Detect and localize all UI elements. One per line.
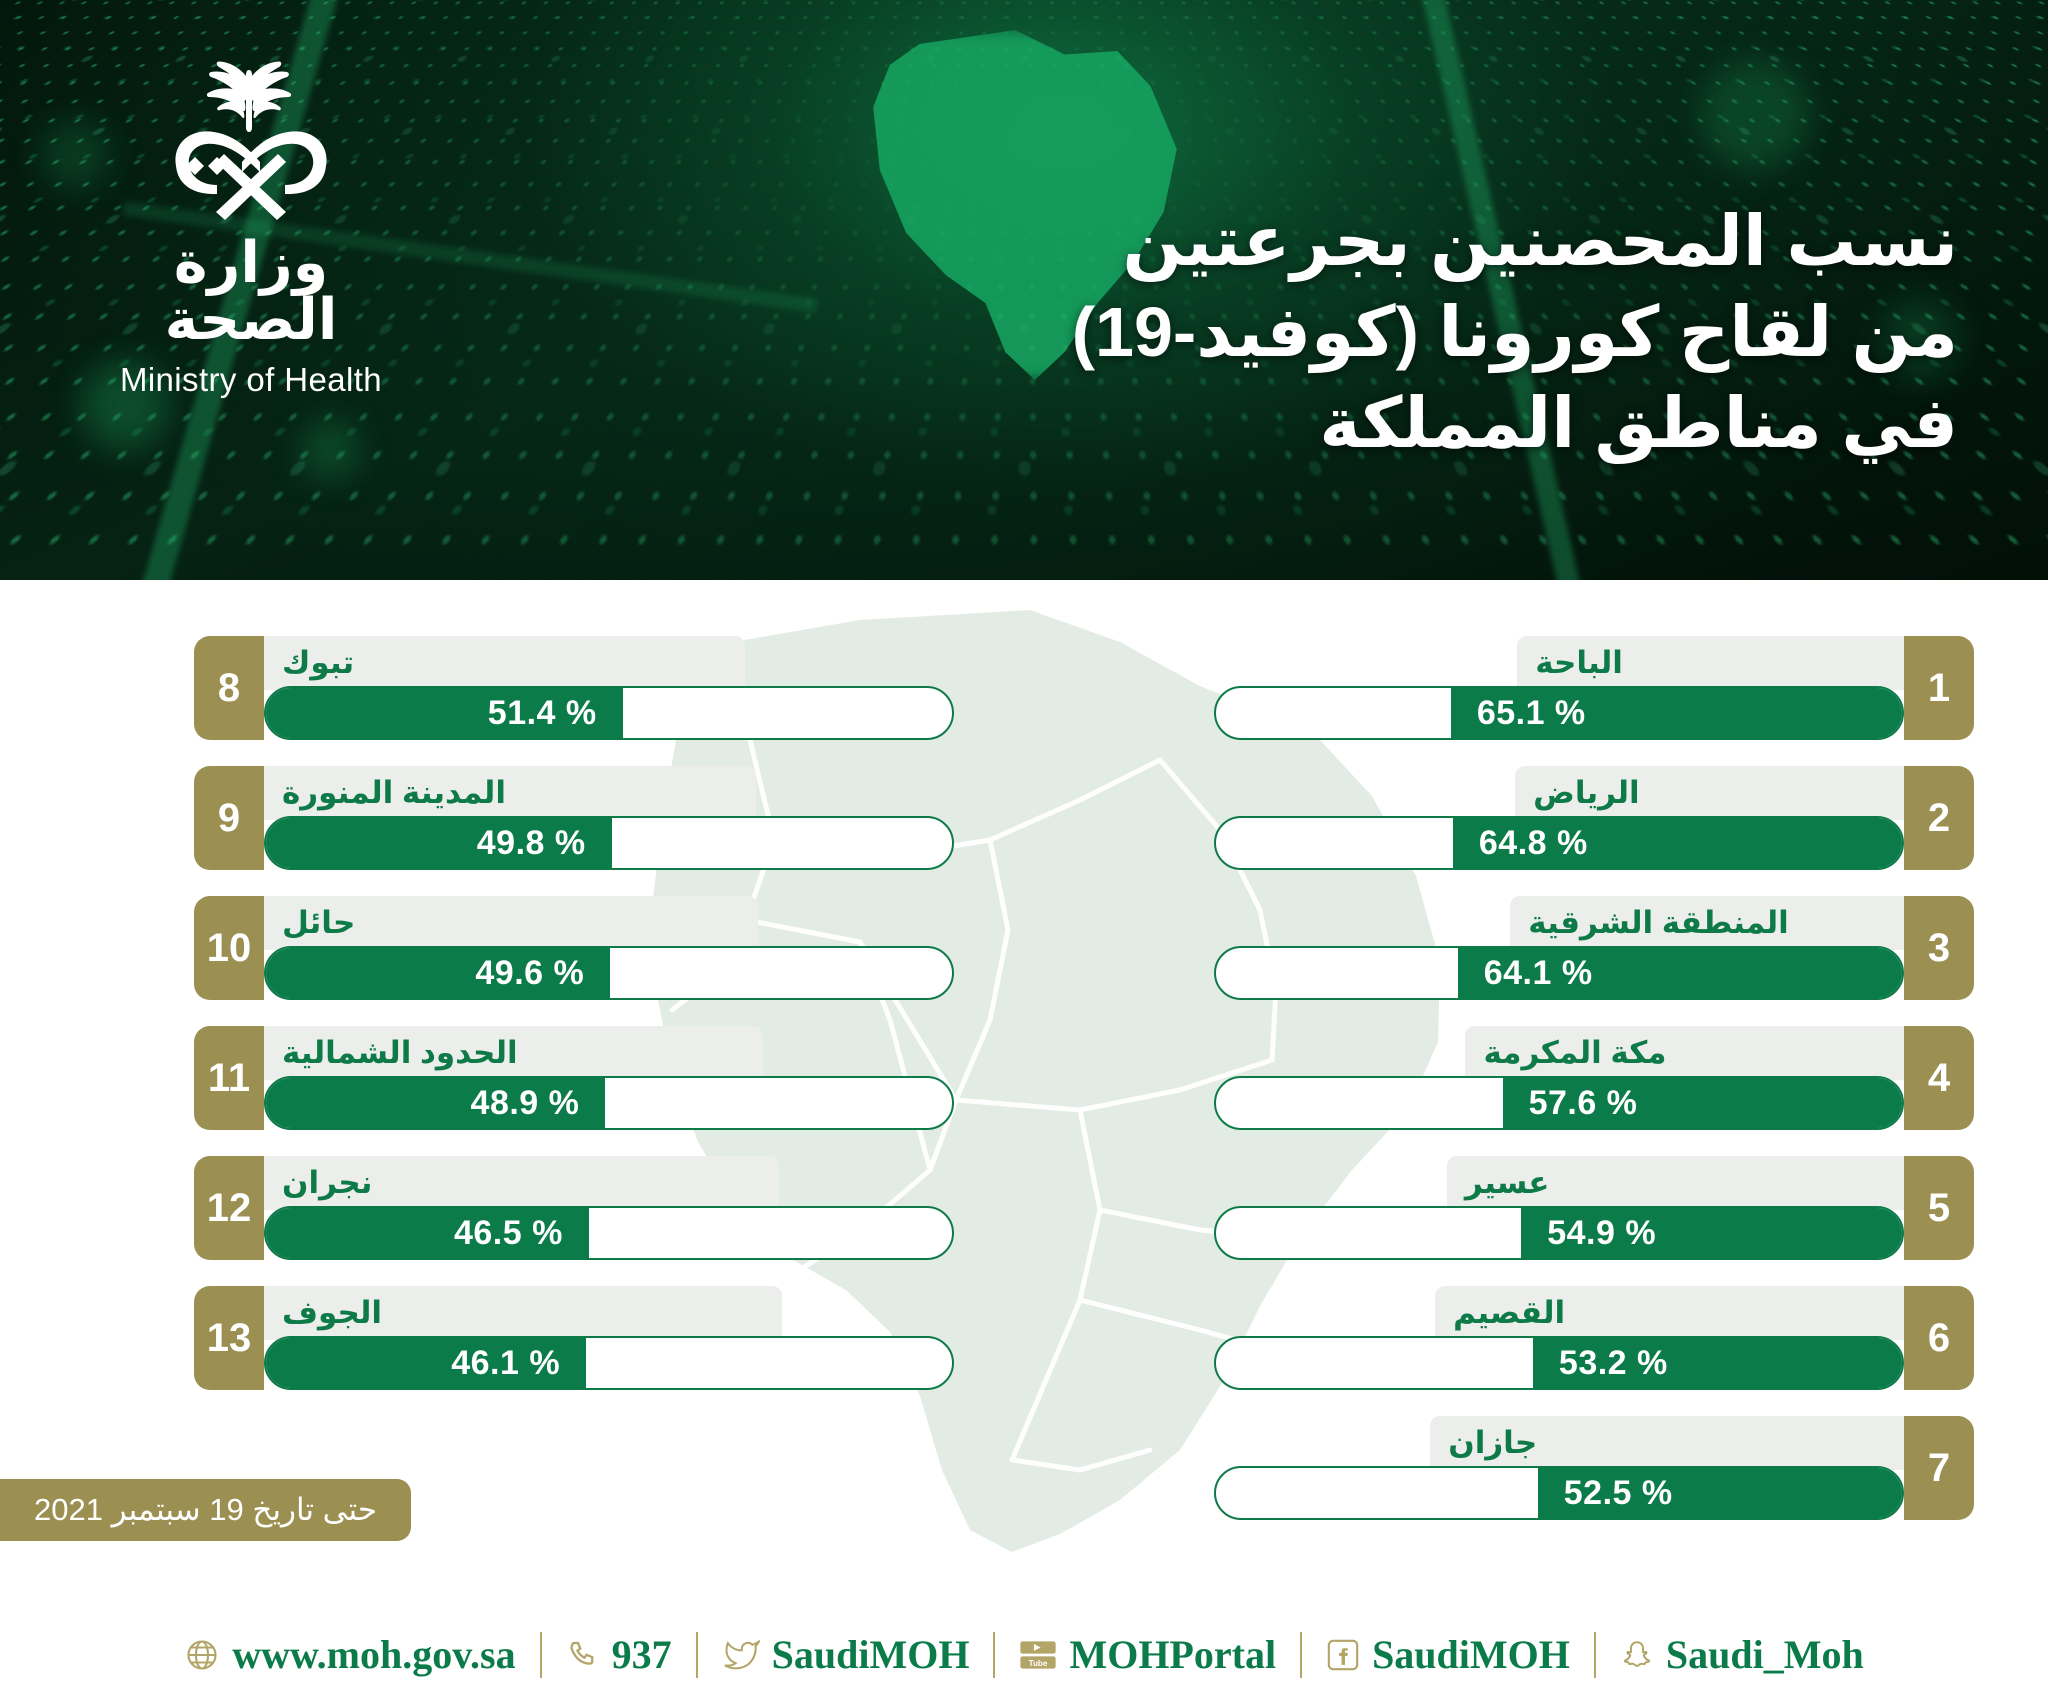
- progress-fill: 54.9 %: [1521, 1206, 1904, 1260]
- progress-fill: 51.4 %: [264, 686, 623, 740]
- header-bokeh-dot: [1700, 60, 1810, 170]
- progress-track: 64.8 %: [1214, 816, 1904, 870]
- percentage-value: 49.8 %: [477, 824, 586, 863]
- percentage-value: 51.4 %: [488, 694, 597, 733]
- progress-track: 46.5 %: [264, 1206, 954, 1260]
- progress-fill: 65.1 %: [1451, 686, 1904, 740]
- percentage-value: 48.9 %: [471, 1084, 580, 1123]
- region-name: الرياض: [1515, 766, 1904, 820]
- title-line-3: في مناطق المملكة: [618, 378, 1958, 469]
- rank-badge: 5: [1904, 1156, 1974, 1260]
- snapchat-icon: [1620, 1638, 1654, 1672]
- rank-badge: 11: [194, 1026, 264, 1130]
- progress-track: 51.4 %: [264, 686, 954, 740]
- rank-badge: 10: [194, 896, 264, 1000]
- rank-badge: 6: [1904, 1286, 1974, 1390]
- rank-badge: 8: [194, 636, 264, 740]
- phone-icon: [566, 1638, 600, 1672]
- twitter-icon: [722, 1638, 760, 1672]
- percentage-value: 49.6 %: [475, 954, 584, 993]
- footer-label-facebook: SaudiMOH: [1372, 1631, 1570, 1678]
- table-row: 9 المدينة المنورة 49.8 %: [194, 766, 954, 896]
- rank-badge: 3: [1904, 896, 1974, 1000]
- logo-english-text: Ministry of Health: [86, 361, 416, 399]
- rank-badge: 1: [1904, 636, 1974, 740]
- rank-badge: 13: [194, 1286, 264, 1390]
- progress-track: 52.5 %: [1214, 1466, 1904, 1520]
- footer-item-website[interactable]: www.moh.gov.sa: [160, 1631, 539, 1678]
- table-row: 5 عسير 54.9 %: [1214, 1156, 1974, 1286]
- progress-fill: 46.5 %: [264, 1206, 589, 1260]
- footer-item-snapchat[interactable]: Saudi_Moh: [1596, 1631, 1888, 1678]
- progress-fill: 49.6 %: [264, 946, 610, 1000]
- progress-fill: 57.6 %: [1503, 1076, 1904, 1130]
- table-row: 12 نجران 46.5 %: [194, 1156, 954, 1286]
- footer-label-snapchat: Saudi_Moh: [1666, 1631, 1864, 1678]
- table-row: 8 تبوك 51.4 %: [194, 636, 954, 766]
- moh-logo: وزارة الصحة Ministry of Health: [86, 58, 416, 399]
- table-row: 10 حائل 49.6 %: [194, 896, 954, 1026]
- region-name: الجوف: [264, 1286, 782, 1340]
- progress-track: 48.9 %: [264, 1076, 954, 1130]
- footer-label-phone: 937: [612, 1631, 672, 1678]
- region-name: تبوك: [264, 636, 745, 690]
- region-name: نجران: [264, 1156, 779, 1210]
- table-row: 2 الرياض 64.8 %: [1214, 766, 1974, 896]
- progress-fill: 64.1 %: [1458, 946, 1904, 1000]
- rank-badge: 4: [1904, 1026, 1974, 1130]
- progress-track: 49.8 %: [264, 816, 954, 870]
- page-title: نسب المحصنين بجرعتين من لقاح كورونا (كوف…: [618, 196, 1958, 469]
- percentage-value: 64.1 %: [1484, 954, 1593, 993]
- region-name: الباحة: [1517, 636, 1904, 690]
- footer-social-bar: www.moh.gov.sa 937 SaudiMOH: [0, 1608, 2048, 1701]
- progress-fill: 49.8 %: [264, 816, 612, 870]
- region-name: المدينة المنورة: [264, 766, 756, 820]
- progress-fill: 53.2 %: [1533, 1336, 1904, 1390]
- date-badge: حتى تاريخ 19 سبتمبر 2021: [0, 1479, 411, 1541]
- region-name: عسير: [1447, 1156, 1904, 1210]
- progress-track: 53.2 %: [1214, 1336, 1904, 1390]
- table-row: 13 الجوف 46.1 %: [194, 1286, 954, 1416]
- bar-column-right: 1 الباحة 65.1 % 2 الرياض 64.8 %: [1214, 636, 1974, 1546]
- region-name: المنطقة الشرقية: [1510, 896, 1904, 950]
- percentage-value: 46.5 %: [454, 1214, 563, 1253]
- progress-fill: 52.5 %: [1538, 1466, 1904, 1520]
- title-line-1: نسب المحصنين بجرعتين: [618, 196, 1958, 287]
- footer-label-twitter: SaudiMOH: [772, 1631, 970, 1678]
- youtube-glyph: Tube: [1019, 1638, 1057, 1672]
- footer-item-facebook[interactable]: SaudiMOH: [1302, 1631, 1594, 1678]
- region-name: الحدود الشمالية: [264, 1026, 763, 1080]
- table-row: 1 الباحة 65.1 %: [1214, 636, 1974, 766]
- percentage-value: 52.5 %: [1564, 1474, 1673, 1513]
- rank-badge: 2: [1904, 766, 1974, 870]
- table-row: 3 المنطقة الشرقية 64.1 %: [1214, 896, 1974, 1026]
- footer-item-phone[interactable]: 937: [542, 1631, 696, 1678]
- percentage-value: 57.6 %: [1529, 1084, 1638, 1123]
- progress-fill: 64.8 %: [1453, 816, 1904, 870]
- progress-track: 64.1 %: [1214, 946, 1904, 1000]
- progress-track: 49.6 %: [264, 946, 954, 1000]
- progress-track: 46.1 %: [264, 1336, 954, 1390]
- progress-fill: 46.1 %: [264, 1336, 586, 1390]
- progress-track: 57.6 %: [1214, 1076, 1904, 1130]
- percentage-value: 53.2 %: [1559, 1344, 1668, 1383]
- rank-badge: 7: [1904, 1416, 1974, 1520]
- footer-item-twitter[interactable]: SaudiMOH: [698, 1631, 994, 1678]
- progress-fill: 48.9 %: [264, 1076, 605, 1130]
- header-bokeh-dot: [300, 420, 360, 480]
- region-name: القصيم: [1435, 1286, 1904, 1340]
- percentage-value: 65.1 %: [1477, 694, 1586, 733]
- rank-badge: 9: [194, 766, 264, 870]
- facebook-icon: [1326, 1638, 1360, 1672]
- region-name: مكة المكرمة: [1465, 1026, 1904, 1080]
- header-banner: وزارة الصحة Ministry of Health نسب المحص…: [0, 0, 2048, 580]
- table-row: 6 القصيم 53.2 %: [1214, 1286, 1974, 1416]
- region-name: جازان: [1430, 1416, 1904, 1470]
- svg-text:Tube: Tube: [1029, 1658, 1048, 1667]
- moh-palm-swords-logo-icon: [146, 58, 356, 233]
- title-line-2: من لقاح كورونا (كوفيد-19): [618, 287, 1958, 378]
- table-row: 11 الحدود الشمالية 48.9 %: [194, 1026, 954, 1156]
- infographic-page: وزارة الصحة Ministry of Health نسب المحص…: [0, 0, 2048, 1701]
- globe-icon: [184, 1637, 220, 1673]
- youtube-icon: Tube: [1019, 1638, 1057, 1672]
- percentage-value: 46.1 %: [451, 1344, 560, 1383]
- percentage-value: 64.8 %: [1479, 824, 1588, 863]
- table-row: 7 جازان 52.5 %: [1214, 1416, 1974, 1546]
- percentage-value: 54.9 %: [1547, 1214, 1656, 1253]
- progress-track: 54.9 %: [1214, 1206, 1904, 1260]
- progress-track: 65.1 %: [1214, 686, 1904, 740]
- rank-badge: 12: [194, 1156, 264, 1260]
- footer-label-website: www.moh.gov.sa: [232, 1631, 515, 1678]
- logo-arabic-text: وزارة الصحة: [86, 235, 416, 349]
- region-name: حائل: [264, 896, 758, 950]
- footer-label-youtube: MOHPortal: [1069, 1631, 1276, 1678]
- table-row: 4 مكة المكرمة 57.6 %: [1214, 1026, 1974, 1156]
- bar-column-left: 8 تبوك 51.4 % 9 المدينة المنورة 49.8 %: [194, 636, 954, 1416]
- footer-item-youtube[interactable]: Tube MOHPortal: [995, 1631, 1300, 1678]
